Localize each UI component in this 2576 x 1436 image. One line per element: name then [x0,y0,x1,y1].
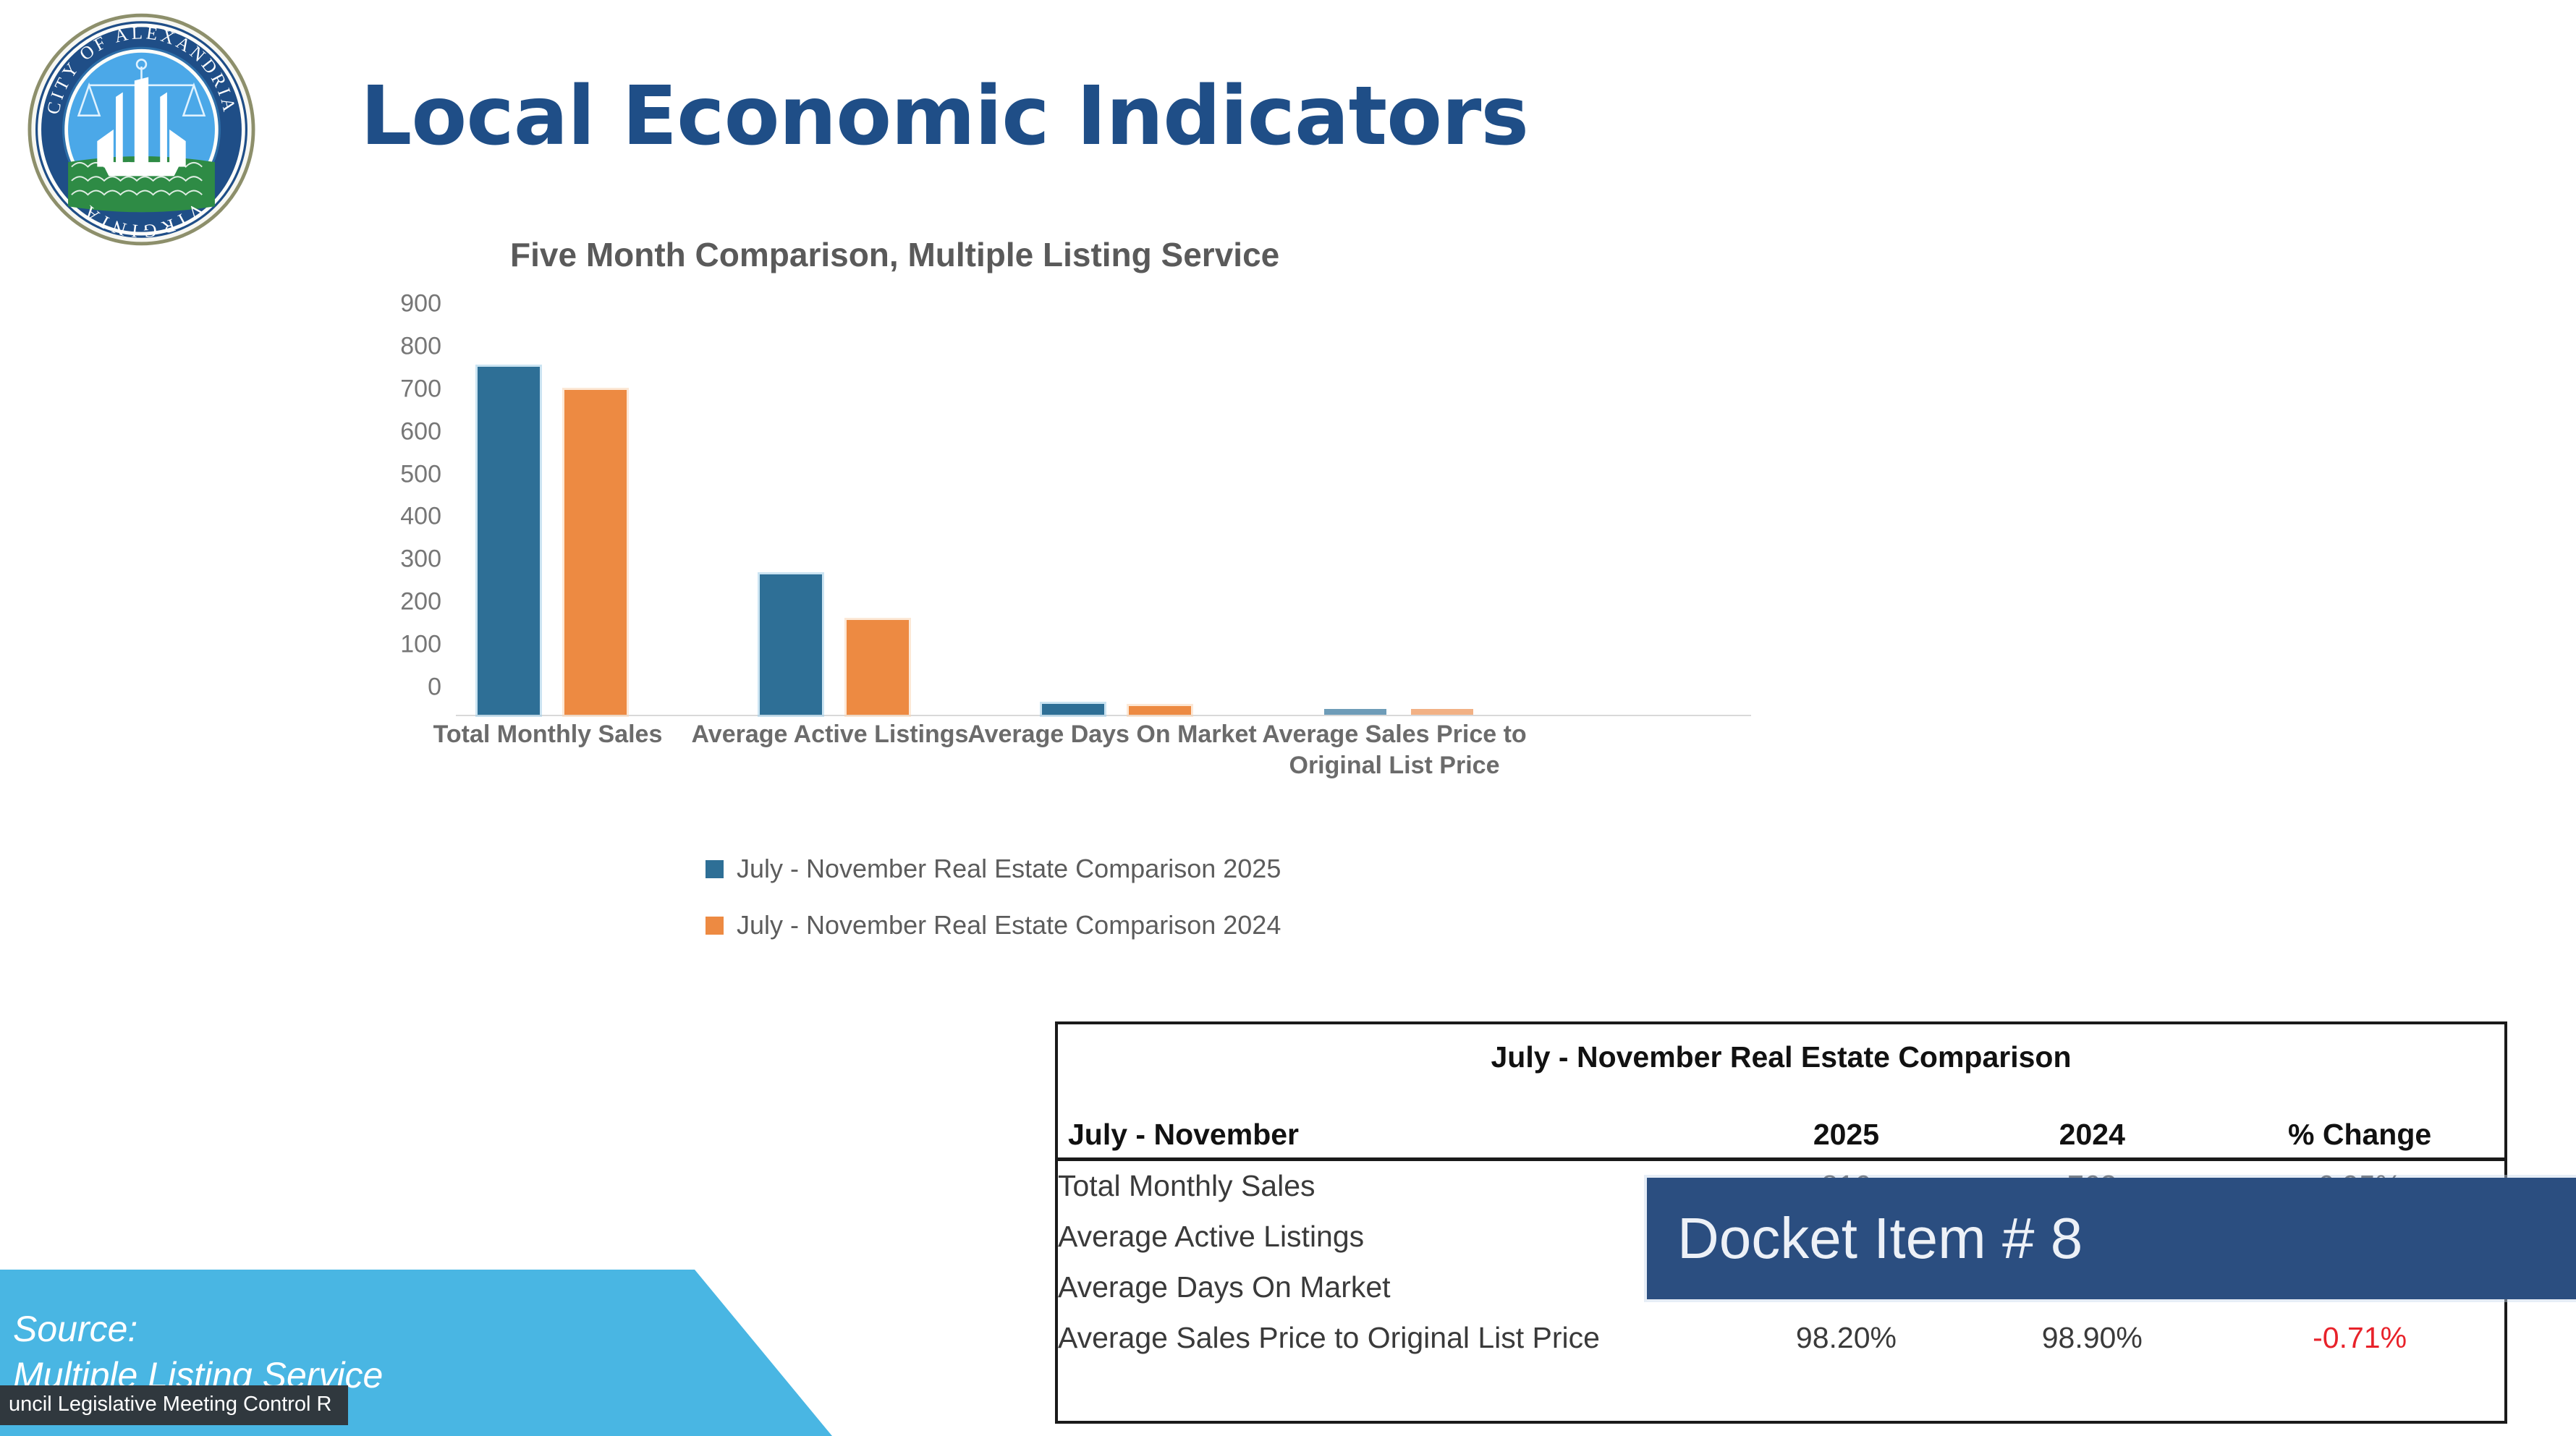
legend-swatch-icon [706,917,724,935]
table-title: July - November Real Estate Comparison [1058,1024,2504,1118]
page-title: Local Economic Indicators [360,76,1528,157]
table-header-2024: 2024 [1969,1118,2215,1157]
legend-item: July - November Real Estate Comparison 2… [706,854,1281,884]
chart-bar-2024 [1411,709,1473,715]
chart-bar-2025 [1042,704,1104,715]
y-axis-tick: 900 [333,290,441,318]
table-header-change: % Change [2215,1118,2504,1157]
y-axis-tick: 0 [333,674,441,702]
x-axis-label: Average Sales Price to Original List Pri… [1242,719,1546,781]
row-label: Average Days On Market [1058,1262,1724,1313]
legend-label: July - November Real Estate Comparison 2… [737,910,1281,940]
row-value-2024: 98.90% [1969,1313,2215,1364]
docket-item-label: Docket Item # 8 [1647,1205,2083,1272]
y-axis-tick: 200 [333,588,441,616]
y-axis-tick: 300 [333,545,441,574]
y-axis-tick: 600 [333,417,441,446]
chart-plot-area: Total Monthly SalesAverage Active Listin… [456,304,1751,716]
table-header-period: July - November [1058,1118,1724,1157]
chart-baseline [456,715,1751,716]
y-axis-tick: 400 [333,503,441,531]
chart-bar-2024 [1129,706,1191,715]
chart-bar-2025 [478,367,540,715]
chart-legend: July - November Real Estate Comparison 2… [706,854,1281,966]
chart-bar-2024 [564,390,627,715]
table-header-row: July - November 2025 2024 % Change [1058,1118,2504,1157]
chart-bar-2024 [847,620,909,715]
row-label: Average Active Listings [1058,1212,1724,1262]
docket-item-overlay: Docket Item # 8 [1647,1178,2576,1299]
table-title-row: July - November Real Estate Comparison [1058,1024,2504,1118]
y-axis-tick: 100 [333,631,441,659]
chart-bar-2025 [1324,709,1386,715]
table-header-2025: 2025 [1724,1118,1970,1157]
y-axis-tick: 800 [333,332,441,360]
row-label: Average Sales Price to Original List Pri… [1058,1313,1724,1364]
row-value-2025: 98.20% [1724,1313,1970,1364]
meeting-caption-bar: uncil Legislative Meeting Control R [0,1385,348,1425]
legend-swatch-icon [706,860,724,878]
legend-label: July - November Real Estate Comparison 2… [737,854,1281,884]
source-label: Source: [13,1306,383,1352]
chart-y-axis: 9008007006005004003002001000 [333,304,441,716]
chart-subtitle: Five Month Comparison, Multiple Listing … [510,235,1279,274]
chart-bar-2025 [760,574,822,715]
x-axis-label: Average Days On Market [960,719,1264,750]
city-seal-logo: CITY OF ALEXANDRIA VIRGINIA [6,13,277,246]
legend-item: July - November Real Estate Comparison 2… [706,910,1281,940]
x-axis-label: Average Active Listings [678,719,982,750]
row-value-change: -0.71% [2215,1313,2504,1364]
y-axis-tick: 500 [333,460,441,488]
y-axis-tick: 700 [333,375,441,403]
row-label: Total Monthly Sales [1058,1160,1724,1212]
table-row: Average Sales Price to Original List Pri… [1058,1313,2504,1364]
bar-chart: 9008007006005004003002001000 Total Month… [333,304,1751,752]
source-text: Source: Multiple Listing Service [13,1306,383,1398]
x-axis-label: Total Monthly Sales [396,719,700,750]
